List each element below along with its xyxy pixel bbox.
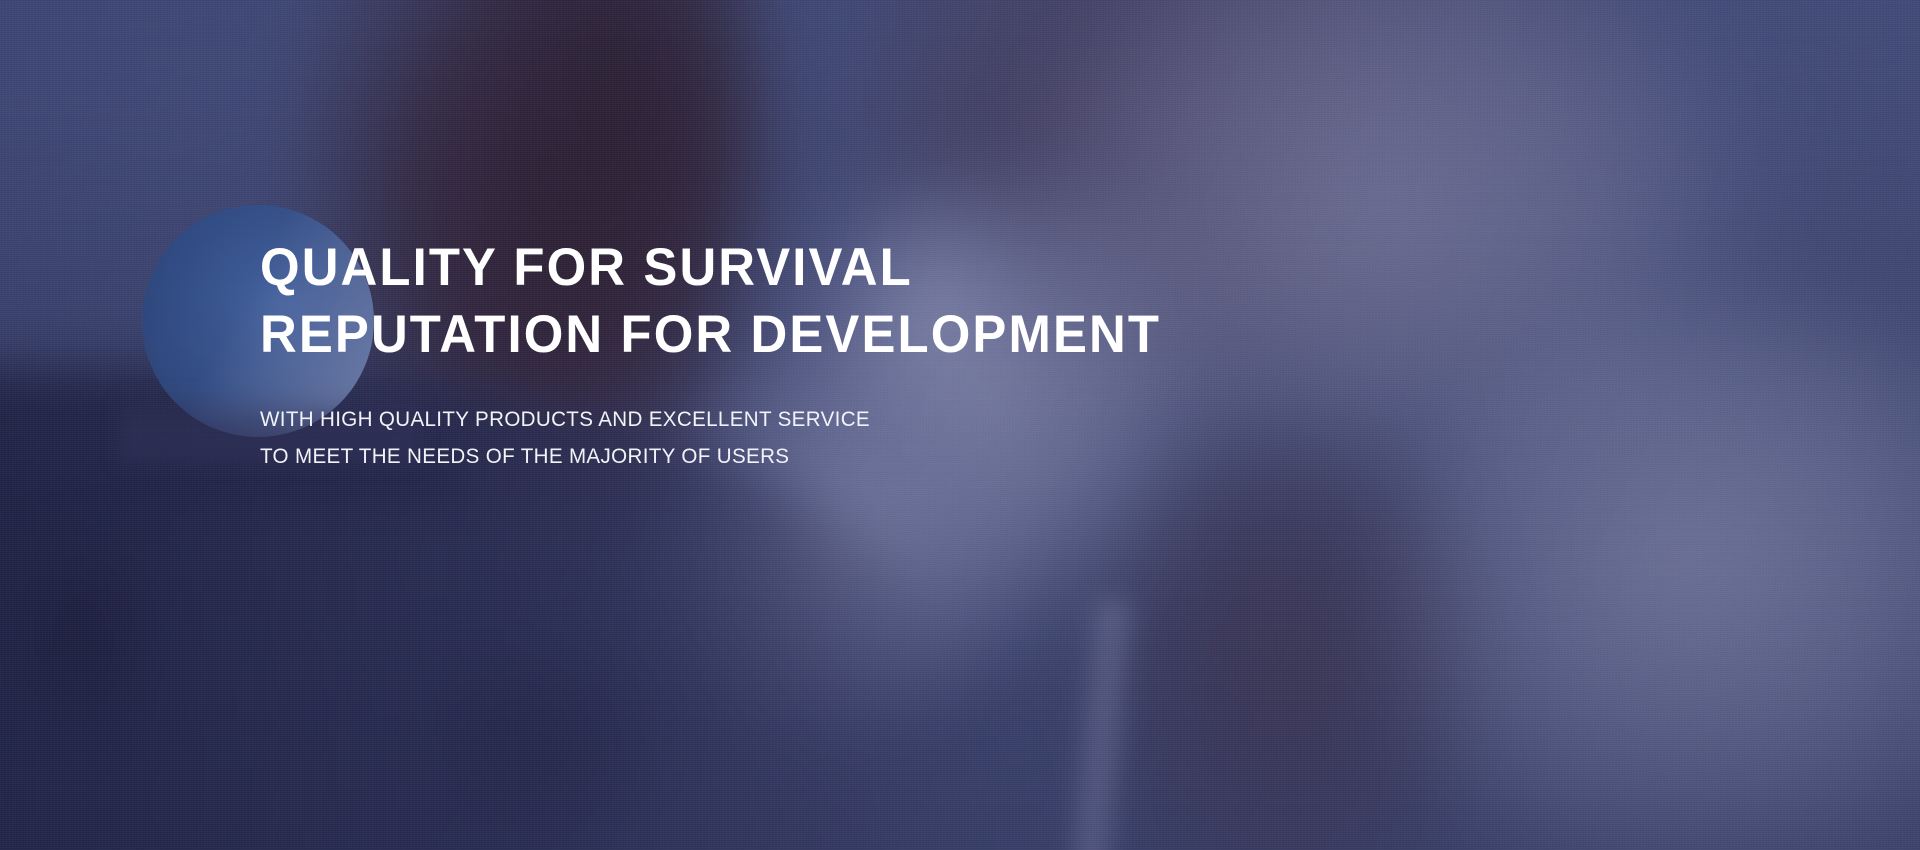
hero-subtitle-line-1: WITH HIGH QUALITY PRODUCTS AND EXCELLENT…	[260, 401, 1436, 438]
hero-subtitle-line-2: TO MEET THE NEEDS OF THE MAJORITY OF USE…	[260, 438, 1436, 475]
hero-headline-line-1: QUALITY FOR SURVIVAL	[260, 236, 1412, 300]
hero-headline: QUALITY FOR SURVIVAL REPUTATION FOR DEVE…	[260, 236, 1412, 367]
hero-banner: QUALITY FOR SURVIVAL REPUTATION FOR DEVE…	[0, 0, 1920, 850]
hero-subtitle: WITH HIGH QUALITY PRODUCTS AND EXCELLENT…	[260, 401, 1436, 475]
hero-headline-line-2: REPUTATION FOR DEVELOPMENT	[260, 303, 1412, 367]
hero-content: QUALITY FOR SURVIVAL REPUTATION FOR DEVE…	[260, 236, 1460, 475]
